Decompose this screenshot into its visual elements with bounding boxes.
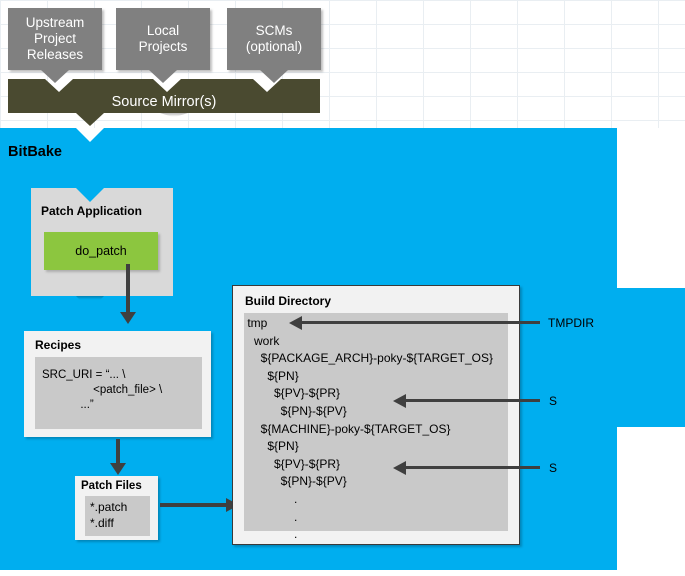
arrow-line-patchfiles-to-builddir bbox=[160, 503, 228, 507]
source-box-scms-optional[interactable]: SCMs (optional) bbox=[227, 8, 321, 70]
arrow-line-tmpdir bbox=[300, 321, 540, 324]
build-directory-tree-row: ${PN} bbox=[244, 368, 508, 386]
arrow-line-patch-to-recipes bbox=[126, 264, 130, 314]
build-directory-tree-row: . bbox=[244, 526, 508, 544]
do-patch-label: do_patch bbox=[75, 244, 126, 258]
recipes-title: Recipes bbox=[35, 338, 81, 352]
arrow-head-s-package-arch bbox=[393, 394, 406, 408]
variable-label-tmpdir: TMPDIR bbox=[548, 316, 594, 330]
patch-application-title: Patch Application bbox=[41, 204, 142, 218]
diagram-canvas: Upstream Project Releases Local Projects… bbox=[0, 0, 685, 576]
patch-files-entries: *.patch *.diff bbox=[90, 499, 127, 531]
arrow-line-s-package-arch bbox=[404, 399, 540, 402]
arrow-head-patch-to-recipes bbox=[120, 312, 136, 324]
source-box-upstream-project-releases[interactable]: Upstream Project Releases bbox=[8, 8, 102, 70]
recipes-src-uri-code: SRC_URI = “... \ <patch_file> \ ...” bbox=[42, 368, 162, 413]
build-directory-tree-row: ${PN}-${PV} bbox=[244, 473, 508, 491]
build-directory-tree-row: ${MACHINE}-poky-${TARGET_OS} bbox=[244, 421, 508, 439]
source-box-label: Upstream Project Releases bbox=[26, 15, 85, 63]
patch-files-title: Patch Files bbox=[81, 480, 142, 492]
source-box-label: Local Projects bbox=[139, 23, 188, 55]
build-directory-tree-row: ${PN} bbox=[244, 438, 508, 456]
arrow-head-tmpdir bbox=[289, 316, 302, 330]
variable-label-s-machine: S bbox=[549, 461, 557, 475]
build-directory-tree-row: . bbox=[244, 509, 508, 527]
build-directory-tree-row: ${PV}-${PR} bbox=[244, 456, 508, 474]
variable-label-s-package-arch: S bbox=[549, 394, 557, 408]
build-directory-tree-row: . bbox=[244, 491, 508, 509]
source-mirror-pointer bbox=[76, 113, 104, 126]
source-mirror-label: Source Mirror(s) bbox=[8, 94, 320, 110]
arrow-line-recipes-to-patchfiles bbox=[116, 439, 120, 465]
arrow-head-s-machine bbox=[393, 461, 406, 475]
build-directory-tree-row: ${PN}-${PV} bbox=[244, 403, 508, 421]
bitbake-label: BitBake bbox=[8, 144, 62, 160]
source-box-label: SCMs (optional) bbox=[246, 23, 302, 55]
source-box-local-projects[interactable]: Local Projects bbox=[116, 8, 210, 70]
arrow-line-s-machine bbox=[404, 466, 540, 469]
build-directory-tree-row: ${PACKAGE_ARCH}-poky-${TARGET_OS} bbox=[244, 350, 508, 368]
do-patch-task[interactable]: do_patch bbox=[44, 232, 158, 270]
build-directory-tree-row: work bbox=[244, 333, 508, 351]
build-directory-title: Build Directory bbox=[245, 294, 331, 308]
arrow-head-recipes-to-patchfiles bbox=[110, 463, 126, 475]
build-directory-tree: tmp work ${PACKAGE_ARCH}-poky-${TARGET_O… bbox=[244, 315, 508, 544]
